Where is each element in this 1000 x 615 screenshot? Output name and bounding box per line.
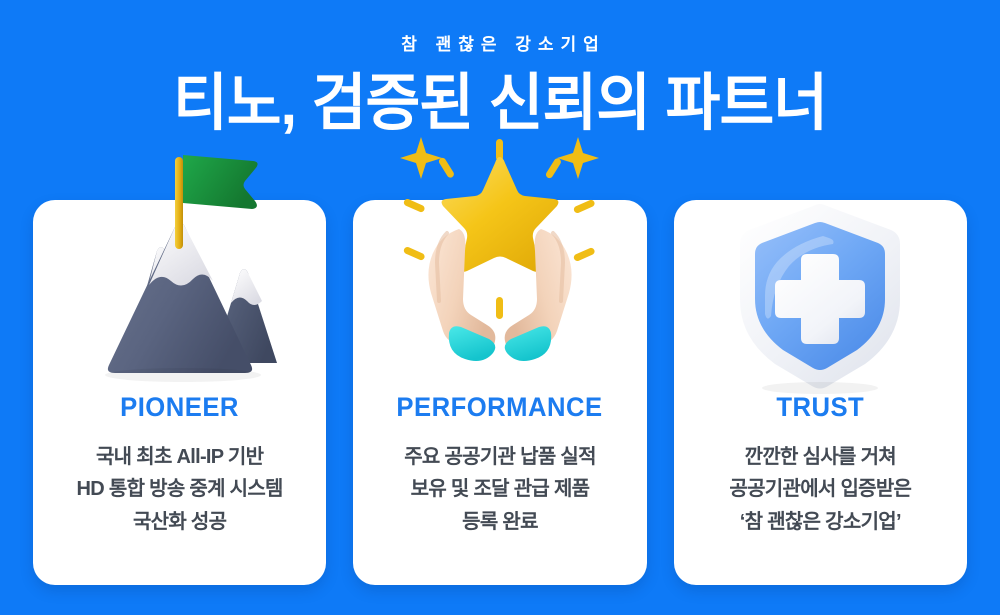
card-body-line: 보유 및 조달 관급 제품 bbox=[404, 473, 596, 505]
feature-card-performance[interactable]: PERFORMANCE 주요 공공기관 납품 실적 보유 및 조달 관급 제품 … bbox=[353, 200, 646, 585]
card-body: 깐깐한 심사를 거쳐 공공기관에서 입증받은 ‘참 괜찮은 강소기업’ bbox=[721, 441, 919, 538]
hands-holding-star-icon bbox=[353, 200, 646, 396]
card-title: PERFORMANCE bbox=[397, 392, 603, 423]
card-body: 국내 최초 All-IP 기반 HD 통합 방송 중계 시스템 국산화 성공 bbox=[69, 441, 291, 538]
card-body-line: 국산화 성공 bbox=[77, 506, 283, 538]
feature-cards: PIONEER 국내 최초 All-IP 기반 HD 통합 방송 중계 시스템 … bbox=[33, 200, 967, 585]
card-body-line: 주요 공공기관 납품 실적 bbox=[404, 441, 596, 473]
page-title: 티노, 검증된 신뢰의 파트너 bbox=[20, 71, 980, 136]
card-body-line: 공공기관에서 입증받은 bbox=[729, 473, 911, 505]
card-title: PIONEER bbox=[120, 392, 239, 423]
mountain-flag-icon bbox=[33, 200, 326, 396]
card-body-line: 깐깐한 심사를 거쳐 bbox=[729, 441, 911, 473]
card-title: TRUST bbox=[776, 392, 864, 423]
card-body-line: 국내 최초 All-IP 기반 bbox=[77, 441, 283, 473]
card-body-line: HD 통합 방송 중계 시스템 bbox=[77, 473, 283, 505]
eyebrow-text: 참 괜찮은 강소기업 bbox=[0, 0, 1000, 55]
card-body-line: 등록 완료 bbox=[404, 506, 596, 538]
feature-card-pioneer[interactable]: PIONEER 국내 최초 All-IP 기반 HD 통합 방송 중계 시스템 … bbox=[33, 200, 326, 585]
feature-card-trust[interactable]: TRUST 깐깐한 심사를 거쳐 공공기관에서 입증받은 ‘참 괜찮은 강소기업… bbox=[674, 200, 967, 585]
card-body-line: ‘참 괜찮은 강소기업’ bbox=[729, 506, 911, 538]
shield-cross-icon bbox=[674, 200, 967, 396]
card-body: 주요 공공기관 납품 실적 보유 및 조달 관급 제품 등록 완료 bbox=[396, 441, 604, 538]
page-header: 참 괜찮은 강소기업 티노, 검증된 신뢰의 파트너 bbox=[0, 0, 1000, 136]
